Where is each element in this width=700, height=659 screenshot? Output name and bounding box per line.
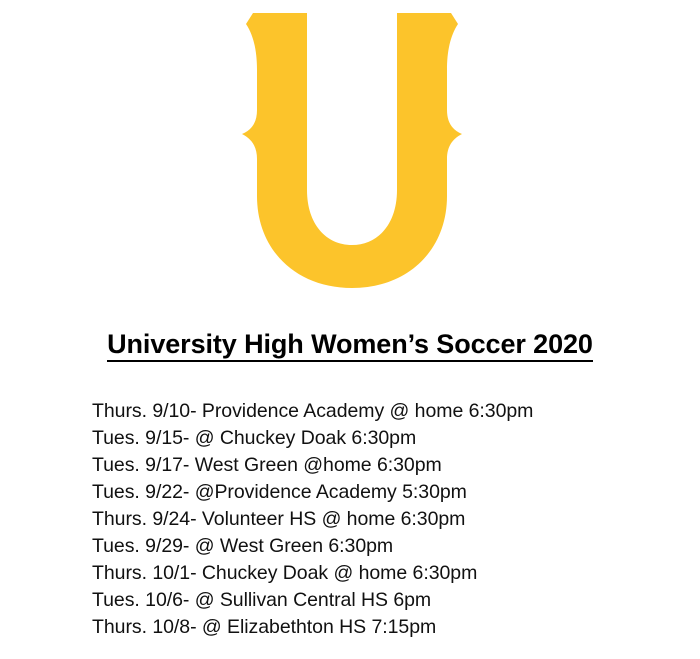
list-item: Tues. 9/29- @ West Green 6:30pm bbox=[92, 533, 652, 560]
list-item: Thurs. 10/1- Chuckey Doak @ home 6:30pm bbox=[92, 560, 652, 587]
list-item: Thurs. 10/8- @ Elizabethton HS 7:15pm bbox=[92, 614, 652, 641]
list-item: Thurs. 9/24- Volunteer HS @ home 6:30pm bbox=[92, 506, 652, 533]
list-item: Tues. 10/6- @ Sullivan Central HS 6pm bbox=[92, 587, 652, 614]
university-u-logo-icon bbox=[222, 0, 482, 300]
logo-container bbox=[0, 0, 700, 300]
page-title-row: University High Women’s Soccer 2020 bbox=[0, 329, 700, 362]
page-title: University High Women’s Soccer 2020 bbox=[107, 329, 593, 362]
list-item: Tues. 9/15- @ Chuckey Doak 6:30pm bbox=[92, 425, 652, 452]
schedule-list: Thurs. 9/10- Providence Academy @ home 6… bbox=[92, 398, 652, 641]
schedule-flyer: University High Women’s Soccer 2020 Thur… bbox=[0, 0, 700, 659]
list-item: Thurs. 9/10- Providence Academy @ home 6… bbox=[92, 398, 652, 425]
list-item: Tues. 9/22- @Providence Academy 5:30pm bbox=[92, 479, 652, 506]
list-item: Tues. 9/17- West Green @home 6:30pm bbox=[92, 452, 652, 479]
